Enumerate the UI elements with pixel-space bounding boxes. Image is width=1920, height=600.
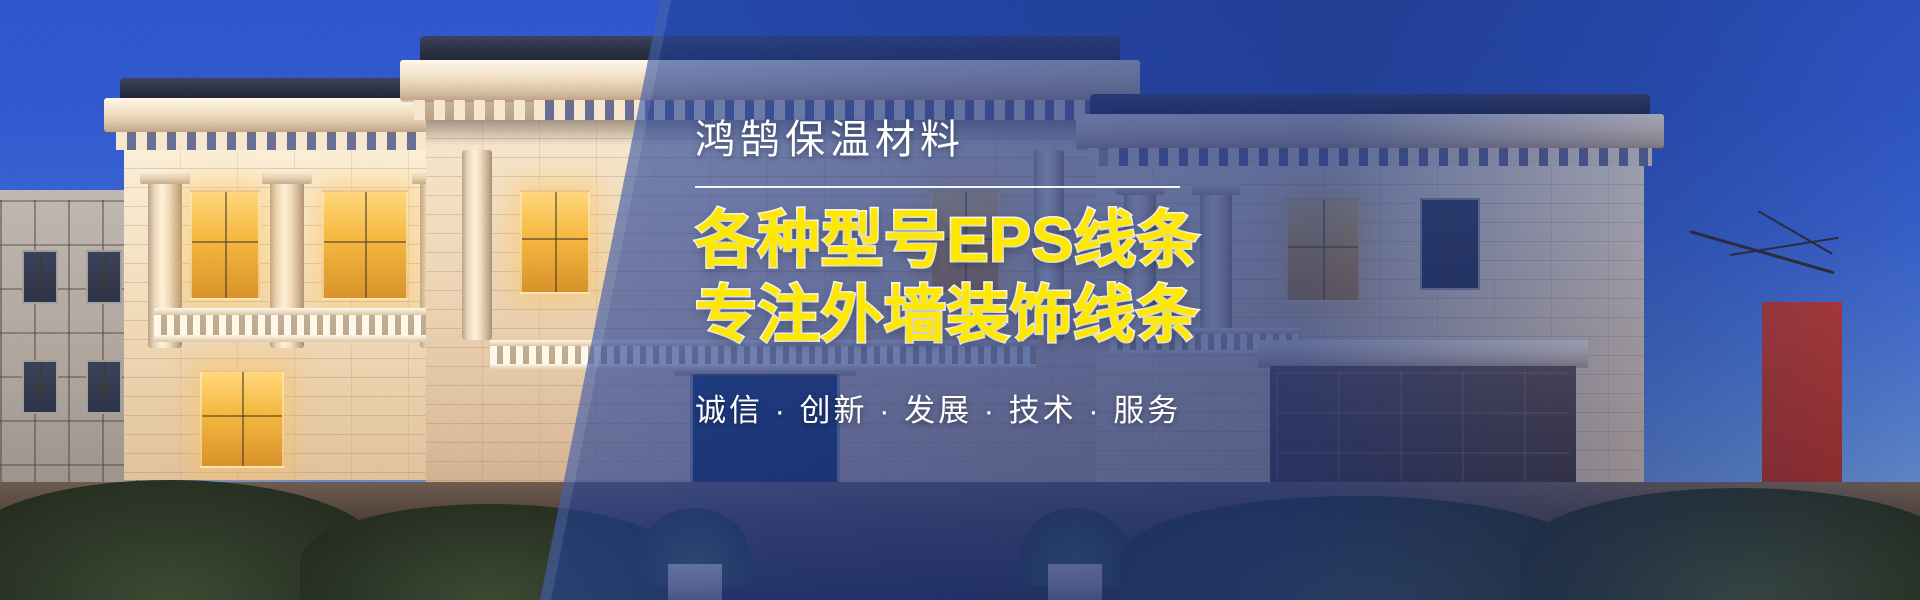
- banner-content: 鸿鹄保温材料 各种型号EPS线条 专注外墙装饰线条 诚信 · 创新 · 发展 ·…: [695, 120, 1415, 430]
- neighbor-window: [22, 250, 58, 304]
- left-wing-balustrade: [154, 308, 454, 342]
- neighbor-window: [22, 360, 58, 414]
- left-wing-lower-window-lit: [200, 370, 284, 468]
- tagline: 诚信 · 创新 · 发展 · 技术 · 服务: [695, 385, 1415, 430]
- center-window-lit: [520, 190, 590, 294]
- left-wing-window-lit: [190, 190, 260, 300]
- headline-line-1: 各种型号EPS线条: [695, 206, 1415, 275]
- left-wing-column-capital: [262, 170, 312, 184]
- center-column: [462, 150, 492, 340]
- left-wing-column-capital: [140, 170, 190, 184]
- hero-banner: 鸿鹄保温材料 各种型号EPS线条 专注外墙装饰线条 诚信 · 创新 · 发展 ·…: [0, 0, 1920, 600]
- brand-name: 鸿鹄保温材料: [695, 120, 1415, 160]
- left-wing-window-lit: [322, 190, 408, 300]
- headline-line-2: 专注外墙装饰线条: [695, 281, 1415, 350]
- divider-rule: [695, 186, 1180, 188]
